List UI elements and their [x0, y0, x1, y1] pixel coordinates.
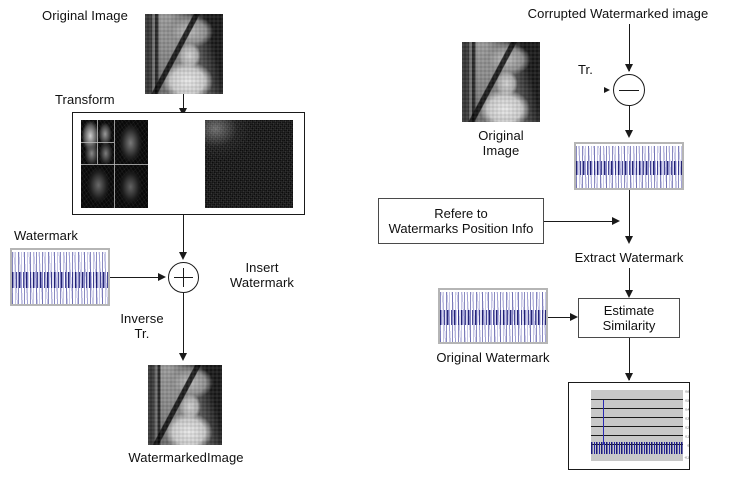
y-tick-label: -0,1 [669, 457, 689, 460]
similarity-plot: 0,6 0,5 0,4 0,3 0,2 0,1 0 -0,1 [569, 383, 689, 469]
original-image-thumbnail-left [145, 14, 223, 94]
arrowhead-original-into-subtract [604, 87, 610, 93]
watermark-label: Watermark [14, 228, 114, 243]
arrowhead-transform-to-insert [179, 252, 187, 260]
arrowhead-insert-to-output [179, 353, 187, 361]
plus-vertical-stroke [183, 268, 184, 287]
arrowhead-corrupted-to-subtract [625, 64, 633, 72]
watermarked-image-label: WatermarkedImage [110, 450, 262, 465]
y-tick-label: 0,4 [669, 409, 689, 412]
y-tick-label: 0,5 [669, 400, 689, 403]
connector-extracted-to-extractlabel [629, 190, 630, 242]
corrupted-watermarked-image-label: Corrupted Watermarked image [498, 6, 738, 21]
arrowhead-extractlabel-to-estimate [625, 290, 633, 298]
correlation-peak [603, 400, 604, 445]
insert-watermark-label: Insert Watermark [215, 260, 309, 290]
wavelet-subbands-panel [81, 120, 148, 208]
transform-tr-label: Tr. [578, 62, 612, 77]
estimate-similarity-box: Estimate Similarity [578, 298, 680, 338]
y-tick-label: 0,2 [669, 427, 689, 430]
connector-insert-to-output [183, 293, 184, 359]
estimate-similarity-text: Estimate Similarity [579, 303, 679, 333]
connector-reference-to-extract [544, 221, 618, 222]
original-image-label-left: Original Image [42, 8, 152, 23]
extracted-watermark-thumbnail [574, 142, 684, 190]
y-tick-label: 0,1 [669, 436, 689, 439]
arrowhead-originalwm-to-estimate [570, 313, 578, 321]
reference-position-info-box: Refere to Watermarks Position Info [378, 198, 544, 244]
original-watermark-label: Original Watermark [412, 350, 574, 365]
extract-watermark-label: Extract Watermark [554, 250, 704, 265]
original-watermark-thumbnail [438, 288, 548, 344]
spectrum-panel [205, 120, 293, 208]
y-tick-label: 0,3 [669, 418, 689, 421]
inverse-transform-label: Inverse Tr. [110, 311, 174, 341]
minus-horizontal-stroke [619, 90, 639, 91]
reference-position-info-text: Refere to Watermarks Position Info [379, 206, 543, 236]
connector-watermark-to-insert [110, 277, 164, 278]
arrowhead-watermark-to-insert [158, 273, 166, 281]
arrowhead-reference-to-extract [612, 217, 620, 225]
original-image-thumbnail-right [462, 42, 540, 122]
arrowhead-subtract-to-extracted [625, 130, 633, 138]
watermark-thumbnail [10, 248, 110, 306]
original-image-label-right: Original Image [455, 128, 547, 158]
y-tick-label: 0,6 [669, 391, 689, 394]
similarity-plot-frame: 0,6 0,5 0,4 0,3 0,2 0,1 0 -0,1 [568, 382, 690, 470]
y-tick-label: 0 [669, 445, 689, 448]
arrowhead-estimate-to-plot [625, 373, 633, 381]
watermarked-image-thumbnail [148, 365, 222, 445]
watermarking-diagram: Original Image Transform Watermark Inser… [0, 0, 740, 477]
transform-label: Transform [55, 92, 145, 107]
arrowhead-extracted-to-extractlabel [625, 236, 633, 244]
